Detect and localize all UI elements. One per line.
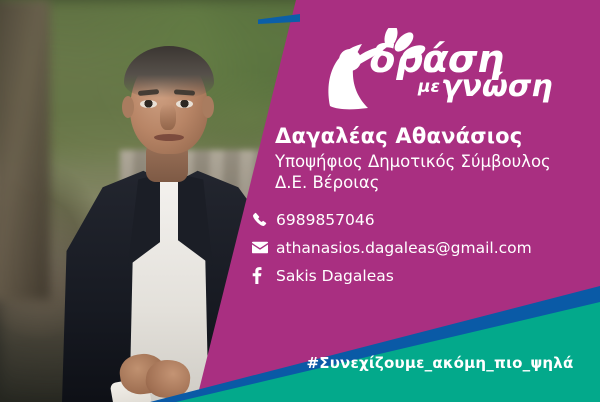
party-logo[interactable]: δράση μεγνώση bbox=[322, 28, 522, 114]
email-address: athanasios.dagaleas@gmail.com bbox=[276, 239, 532, 257]
contact-row-phone[interactable]: 6989857046 bbox=[252, 208, 532, 231]
contact-row-email[interactable]: athanasios.dagaleas@gmail.com bbox=[252, 236, 532, 259]
eye-right bbox=[176, 100, 193, 108]
logo-tagline-large: γνώση bbox=[441, 69, 553, 104]
facebook-icon bbox=[252, 267, 276, 284]
ear-right bbox=[202, 96, 214, 118]
facebook-name: Sakis Dagaleas bbox=[276, 267, 394, 285]
envelope-icon bbox=[252, 241, 276, 254]
phone-number: 6989857046 bbox=[276, 211, 375, 229]
candidate-role-line2: Δ.Ε. Βέροιας bbox=[275, 173, 379, 192]
mouth bbox=[154, 134, 184, 141]
phone-icon bbox=[252, 212, 276, 227]
candidate-role-line1: Υποψήφιος Δημοτικός Σύμβουλος bbox=[275, 152, 551, 171]
contact-list: 6989857046 athanasios.dagaleas@gmail.com… bbox=[252, 208, 532, 287]
contact-row-facebook[interactable]: Sakis Dagaleas bbox=[252, 264, 532, 287]
logo-tagline: μεγνώση bbox=[418, 72, 553, 102]
ear-left bbox=[122, 96, 134, 118]
eye-left bbox=[140, 100, 157, 108]
tree-trunk bbox=[0, 0, 50, 300]
campaign-card: δράση μεγνώση Δαγαλέας Αθανάσιος Υποψήφι… bbox=[0, 0, 600, 402]
logo-tagline-small: με bbox=[418, 77, 440, 97]
hair bbox=[124, 46, 214, 98]
candidate-name: Δαγαλέας Αθανάσιος bbox=[275, 124, 522, 148]
nose bbox=[160, 104, 176, 130]
campaign-hashtag: #Συνεχίζουμε_ακόμη_πιο_ψηλά bbox=[300, 354, 580, 372]
